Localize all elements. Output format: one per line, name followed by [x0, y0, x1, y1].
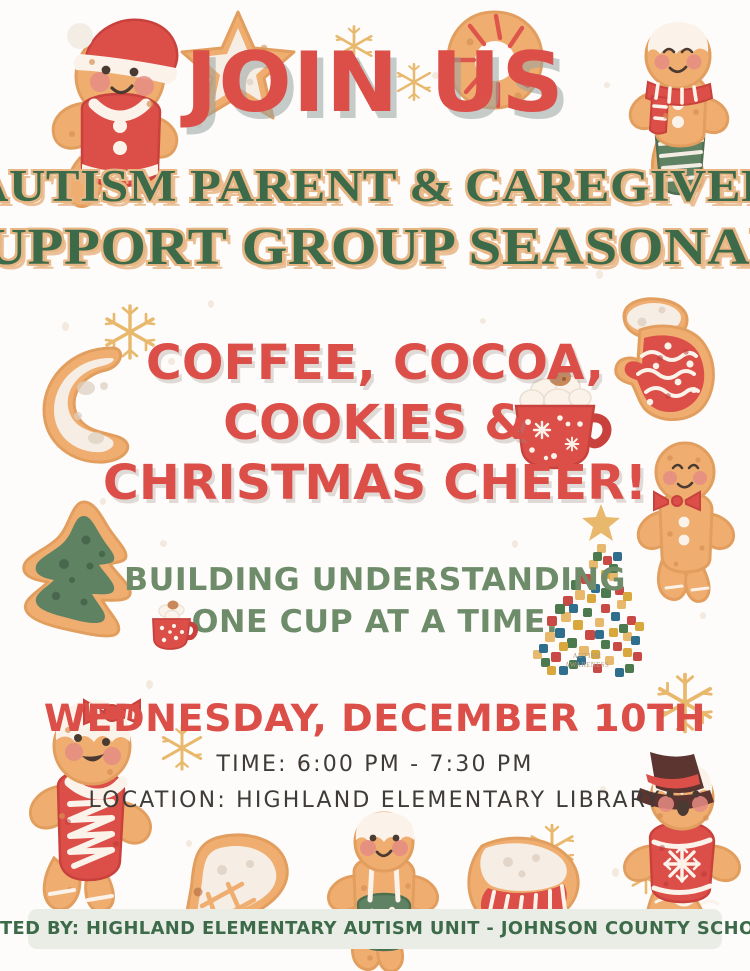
hosted-by-banner: HOSTED BY: HIGHLAND ELEMENTARY AUTISM UN… — [28, 909, 722, 949]
headline: JOIN US — [0, 34, 750, 131]
event-date: WEDNESDAY, DECEMBER 10TH — [0, 697, 750, 740]
tagline-line-2: ONE CUP AT A TIME. — [0, 604, 750, 640]
hosted-by-text: HOSTED BY: HIGHLAND ELEMENTARY AUTISM UN… — [0, 919, 750, 939]
tagline-line-1: BUILDING UNDERSTANDING — [0, 562, 750, 598]
offer-line-3: CHRISTMAS CHEER! — [0, 455, 750, 511]
event-time: TIME: 6:00 PM - 7:30 PM — [0, 752, 750, 777]
holiday-flyer: AUTISM AWARENESS — [0, 0, 750, 971]
subheading-line-2: SUPPORT GROUP SEASONAL SOCIAL — [0, 218, 750, 277]
subheading-line-1: AUTISM PARENT & CAREGIVER — [0, 160, 750, 212]
event-location: LOCATION: HIGHLAND ELEMENTARY LIBRARY — [0, 788, 750, 813]
offer-line-2: COOKIES & — [0, 395, 750, 451]
flyer-content: JOIN US AUTISM PARENT & CAREGIVER SUPPOR… — [0, 0, 750, 971]
offer-line-1: COFFEE, COCOA, — [0, 335, 750, 391]
